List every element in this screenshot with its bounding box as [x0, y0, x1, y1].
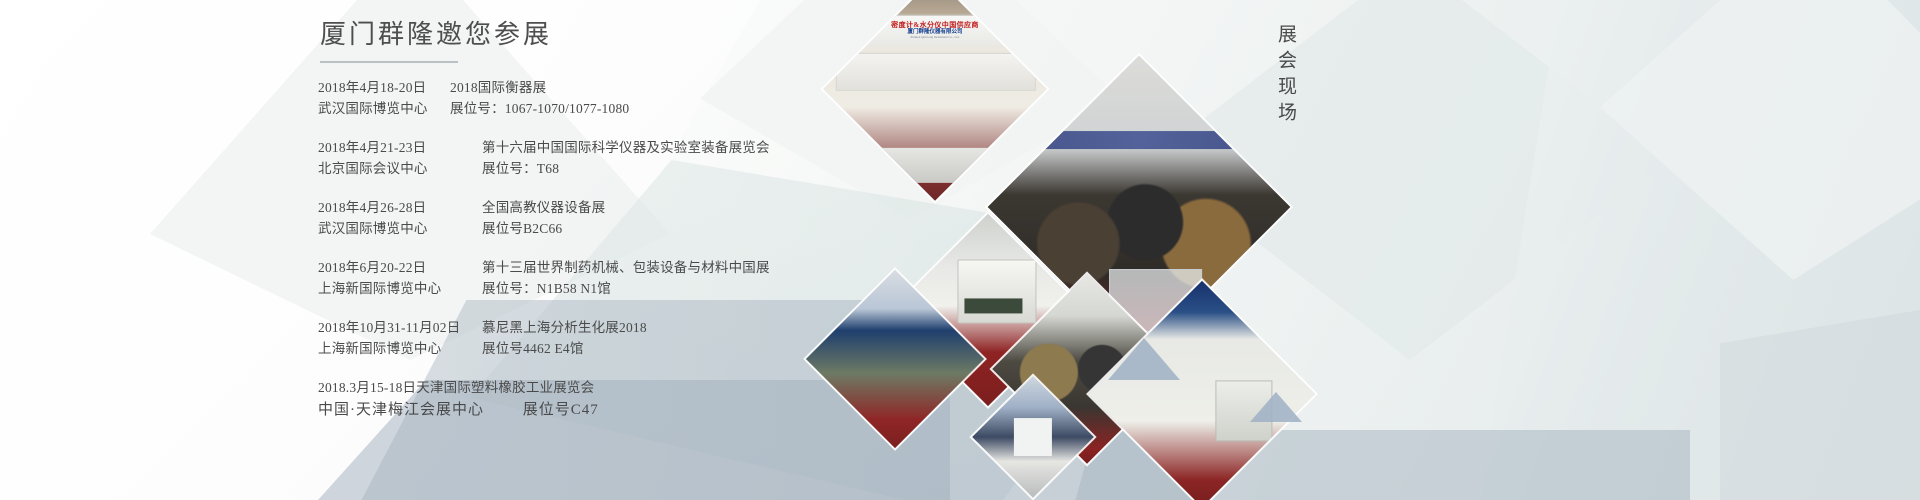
event-name: 第十六届中国国际科学仪器及实验室装备展览会 — [468, 137, 770, 158]
event-booth: 展位号C47 — [489, 398, 599, 422]
booth-banner-line1: 密度计&水分仪中国供应商 — [891, 22, 979, 29]
analyzer-body — [957, 260, 1036, 324]
event-booth: 展位号B2C66 — [468, 218, 562, 239]
event-venue: 武汉国际博览中心 — [318, 98, 436, 119]
event-venue: 武汉国际博览中心 — [318, 218, 468, 239]
event-date: 2018年10月31-11月02日 — [318, 317, 468, 338]
event-venue: 北京国际会议中心 — [318, 158, 468, 179]
event-name: 全国高教仪器设备展 — [468, 197, 605, 218]
collage-gap — [1014, 418, 1052, 456]
background-shard-j — [1720, 300, 1920, 500]
event-booth: 展位号4462 E4馆 — [468, 338, 584, 359]
event-name: 第十三届世界制药机械、包装设备与材料中国展 — [468, 257, 770, 278]
photo-image: 密度计&水分仪中国供应商 厦门群隆仪器有限公司 Xiamen Qun long … — [823, 0, 1046, 201]
event-venue: 上海新国际博览中心 — [318, 338, 468, 359]
event-date: 2018年4月21-23日 — [318, 137, 468, 158]
analyzer-display — [965, 298, 1023, 313]
event-name: 2018国际衡器展 — [436, 77, 546, 98]
hall-signage — [988, 131, 1291, 149]
event-venue: 上海新国际博览中心 — [318, 278, 468, 299]
section-label-vertical: 展会现场 — [1272, 24, 1299, 128]
background-shard-h — [1600, 0, 1920, 280]
event-name: 慕尼黑上海分析生化展2018 — [468, 317, 647, 338]
event-booth: 展位号：N1B58 N1馆 — [468, 278, 611, 299]
event-venue: 中国·天津梅江会展中心 — [318, 398, 484, 422]
event-date: 2018年4月26-28日 — [318, 197, 468, 218]
booth-banner-line3: Xiamen Qun long Instrument Co., Ltd. — [910, 36, 960, 40]
event-booth: 展位号：T68 — [468, 158, 559, 179]
event-date: 2018年4月18-20日 — [318, 77, 436, 98]
booth-shelf — [836, 53, 1035, 91]
event-date: 2018.3月15-18日天津国际塑料橡胶工业展览会 — [318, 377, 594, 398]
booth-counter — [841, 147, 1029, 183]
title-divider — [320, 61, 458, 63]
event-date: 2018年6月20-22日 — [318, 257, 468, 278]
background-shard-g — [1480, 0, 1920, 500]
display-instrument — [1216, 380, 1273, 441]
promo-banner: 厦门群隆邀您参展 2018年4月18-20日 2018国际衡器展 武汉国际博览中… — [0, 0, 1920, 500]
booth-banner: 密度计&水分仪中国供应商 厦门群隆仪器有限公司 Xiamen Qun long … — [832, 15, 1038, 45]
event-booth: 展位号：1067-1070/1077-1080 — [436, 98, 629, 119]
collage-photo-booth-banner: 密度计&水分仪中国供应商 厦门群隆仪器有限公司 Xiamen Qun long … — [823, 0, 1046, 201]
